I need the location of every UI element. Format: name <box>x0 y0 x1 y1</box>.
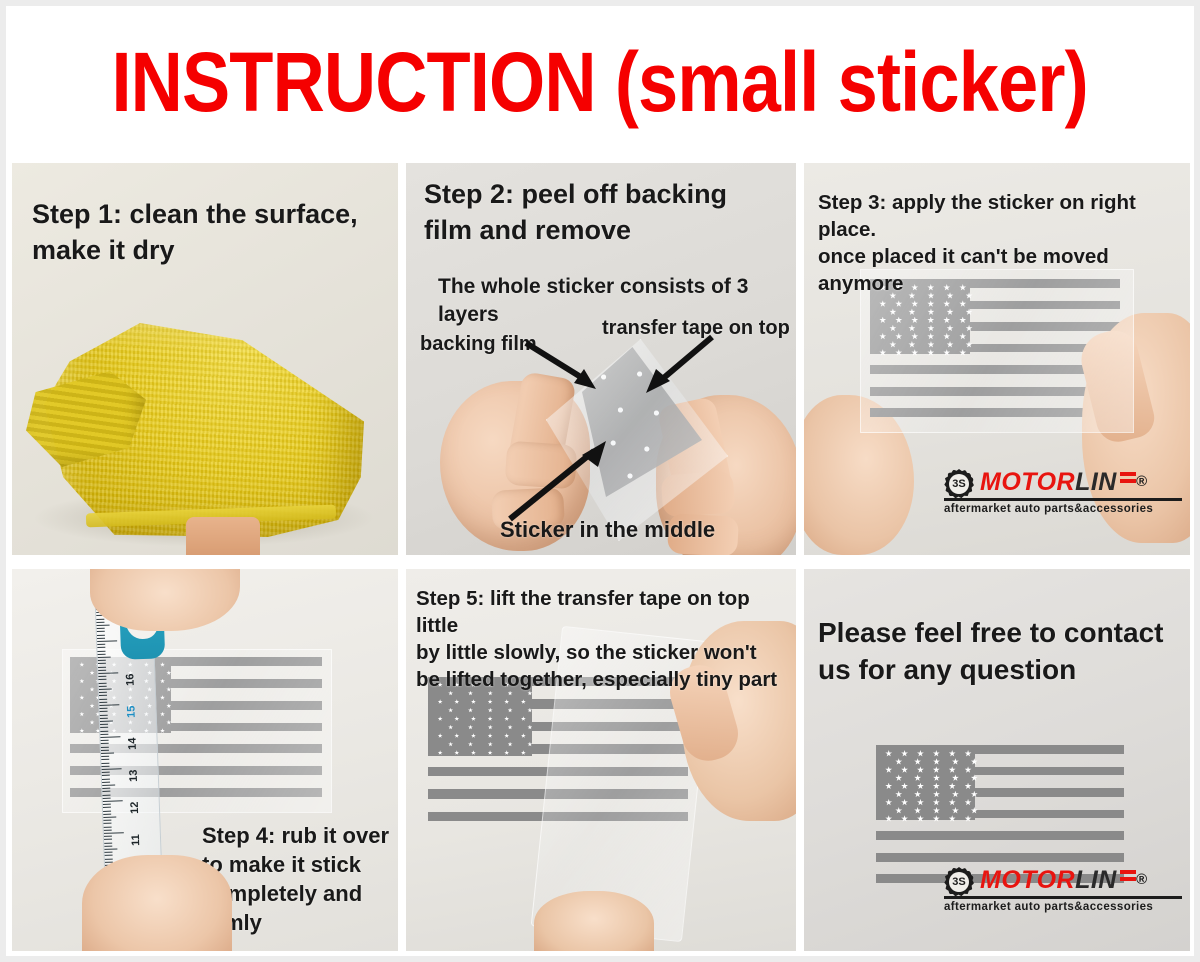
ruler-tick <box>103 813 111 814</box>
flag-star <box>488 699 493 704</box>
flag-star <box>488 750 493 755</box>
label-backing-film: backing film <box>420 331 537 357</box>
ruler-tick <box>101 753 114 754</box>
flag-star <box>965 766 972 773</box>
flag-star <box>965 799 972 806</box>
step-1-caption: Step 1: clean the surface, make it dry <box>32 197 358 268</box>
flag-star <box>454 699 459 704</box>
ruler-tick <box>101 740 109 741</box>
ruler-tick <box>103 804 111 805</box>
ruler-tick <box>99 702 107 703</box>
flag-star <box>901 783 908 790</box>
bottom-hand <box>82 855 232 951</box>
ruler-tick <box>102 794 110 795</box>
flag-star <box>933 807 940 814</box>
logo-divider <box>944 498 1182 501</box>
logo-e-bars-icon <box>1120 870 1136 888</box>
logo-wordmark: MOTORLIN® <box>980 469 1147 495</box>
flag-star <box>521 733 526 738</box>
ruler-tick <box>99 692 107 693</box>
flag-star <box>438 699 443 704</box>
ruler-tick <box>101 746 109 747</box>
flag-star <box>527 742 532 747</box>
flag-star <box>454 733 459 738</box>
ruler-tick <box>99 698 107 699</box>
flag-star <box>508 742 513 747</box>
ruler-tick <box>104 836 112 837</box>
flag-star <box>949 750 956 757</box>
flag-star <box>488 742 493 747</box>
registered-mark: ® <box>1136 473 1148 490</box>
ruler-tick <box>104 852 112 853</box>
flag-star <box>901 750 908 757</box>
brand-logo: 3S MOTORLIN® aftermarket auto parts&acce… <box>944 469 1182 515</box>
ruler-tick <box>104 829 112 830</box>
ruler-number: 13 <box>128 769 140 782</box>
page-title-bar: INSTRUCTION (small sticker) <box>6 6 1194 158</box>
flag-star <box>933 774 940 781</box>
panel-step-4: 9101112131415161718 Step 4: rub it over … <box>12 569 398 951</box>
ruler-tick <box>99 708 107 709</box>
ruler-tick <box>101 749 109 750</box>
us-flag-decal <box>876 745 1124 885</box>
flag-stripe <box>876 831 1124 840</box>
instruction-sheet: INSTRUCTION (small sticker) Step 1: clea… <box>0 0 1200 962</box>
panel-step-1: Step 1: clean the surface, make it dry <box>12 163 398 555</box>
ruler-tick <box>102 772 110 773</box>
flag-star <box>885 783 892 790</box>
panel-step-3: Step 3: apply the sticker on right place… <box>804 163 1190 555</box>
ruler-tick <box>99 704 119 706</box>
gear-icon: 3S <box>944 469 974 499</box>
ruler-tick <box>97 634 105 635</box>
flag-star <box>448 742 453 747</box>
ruler-tick <box>103 823 111 824</box>
flag-star <box>914 807 921 814</box>
gear-icon: 3S <box>944 867 974 897</box>
ruler-tick <box>104 842 112 843</box>
flag-star <box>504 716 509 721</box>
flag-star <box>895 758 902 765</box>
flag-star <box>488 733 493 738</box>
flag-star <box>885 766 892 773</box>
flag-star <box>949 799 956 806</box>
flag-star <box>895 807 902 814</box>
flag-star <box>438 716 443 721</box>
ruler-tick <box>98 670 106 671</box>
flag-star <box>895 774 902 781</box>
flag-star <box>438 750 443 755</box>
page-title: INSTRUCTION (small sticker) <box>112 40 1088 124</box>
ruler-tick <box>98 676 106 677</box>
step-2-caption: Step 2: peel off backing film and remove <box>424 177 727 248</box>
flag-star <box>454 750 459 755</box>
flag-star <box>965 783 972 790</box>
ruler-tick <box>97 628 105 629</box>
ruler-tick <box>98 660 106 661</box>
ruler-tick <box>104 826 112 827</box>
steps-grid: Step 1: clean the surface, make it dry <box>12 163 1188 953</box>
registered-mark: ® <box>1136 871 1148 888</box>
ruler-tick <box>102 781 110 782</box>
ruler-tick <box>102 768 122 770</box>
logo-wordmark: MOTORLIN® <box>980 867 1147 893</box>
flag-star <box>933 766 940 773</box>
ruler-tick <box>99 689 112 690</box>
ruler-tick <box>97 625 110 626</box>
step-5-caption: Step 5: lift the transfer tape on top li… <box>416 585 796 693</box>
flag-star <box>468 725 473 730</box>
ruler-tick <box>99 682 107 683</box>
ruler-tick <box>104 839 112 840</box>
ruler-tick <box>103 807 111 808</box>
flag-star <box>917 750 924 757</box>
flag-star <box>448 708 453 713</box>
yellow-towel-image <box>26 313 382 551</box>
flag-star <box>933 799 940 806</box>
flag-star <box>933 791 940 798</box>
ruler-number: 11 <box>130 834 142 846</box>
flag-canton <box>876 745 975 820</box>
ruler-tick <box>96 618 104 619</box>
ruler-tick <box>100 718 108 719</box>
ruler-tick <box>102 788 110 789</box>
ruler-tick <box>97 647 105 648</box>
ruler-tick <box>98 679 106 680</box>
ruler-tick <box>100 714 108 715</box>
ruler-tick <box>97 638 105 639</box>
flag-stripe <box>876 853 1124 862</box>
flag-star <box>508 708 513 713</box>
ruler-tick <box>100 727 108 728</box>
ruler-tick <box>100 724 108 725</box>
flag-star <box>471 716 476 721</box>
flag-star <box>488 716 493 721</box>
flag-star <box>527 725 532 730</box>
flag-star <box>521 699 526 704</box>
ruler-tick <box>101 762 109 763</box>
flag-star <box>521 750 526 755</box>
ruler-number: 12 <box>129 801 141 814</box>
ruler-tick <box>105 858 113 859</box>
hand-under-towel <box>186 517 260 555</box>
ruler-number: 15 <box>125 705 137 718</box>
flag-star <box>504 750 509 755</box>
panel-contact: Please feel free to contact us for any q… <box>804 569 1190 951</box>
logo-brand-primary: MOTOR <box>980 866 1075 894</box>
ruler-tick <box>98 666 106 667</box>
flag-star <box>914 791 921 798</box>
ruler-tick <box>104 832 124 834</box>
flag-star <box>885 750 892 757</box>
logo-tagline: aftermarket auto parts&accessories <box>944 901 1182 913</box>
ruler-tick <box>104 848 117 849</box>
ruler-tick <box>103 797 111 798</box>
flag-star <box>504 699 509 704</box>
flag-star <box>471 733 476 738</box>
flag-star <box>471 699 476 704</box>
ruler-tick <box>97 640 117 642</box>
flag-star <box>949 766 956 773</box>
flag-star <box>917 766 924 773</box>
ruler-tick <box>102 785 115 786</box>
flag-star <box>468 708 473 713</box>
flag-star <box>508 725 513 730</box>
flag-star <box>521 716 526 721</box>
flag-star <box>933 758 940 765</box>
ruler-tick <box>100 730 108 731</box>
ruler-tick <box>104 845 112 846</box>
ruler-tick <box>100 734 108 735</box>
brand-logo: 3S MOTORLIN® aftermarket auto parts&acce… <box>944 867 1182 913</box>
flag-star <box>488 725 493 730</box>
gear-label: 3S <box>949 474 969 494</box>
ruler-tick <box>101 759 109 760</box>
step-3-caption: Step 3: apply the sticker on right place… <box>818 189 1190 297</box>
transfer-tape-arrow-icon <box>634 333 718 399</box>
panel-step-2: Step 2: peel off backing film and remove… <box>406 163 796 555</box>
flag-star <box>952 774 959 781</box>
flag-star <box>471 750 476 755</box>
ruler-tick <box>102 775 110 776</box>
logo-wordmark-row: 3S MOTORLIN® <box>944 867 1182 893</box>
logo-wordmark-row: 3S MOTORLIN® <box>944 469 1182 495</box>
ruler-tick <box>100 721 113 722</box>
ruler-number: 16 <box>124 673 136 686</box>
flag-star <box>952 807 959 814</box>
ruler-tick <box>98 663 106 664</box>
ruler-tick <box>103 820 111 821</box>
ruler-tick <box>99 695 107 696</box>
logo-brand-primary: MOTOR <box>980 468 1075 496</box>
flag-star <box>917 783 924 790</box>
flag-star <box>448 725 453 730</box>
gear-label: 3S <box>949 872 969 892</box>
ruler-tick <box>102 778 110 779</box>
flag-star <box>901 766 908 773</box>
flag-star <box>952 791 959 798</box>
ruler-tick <box>97 644 105 645</box>
ruler-tick <box>101 756 109 757</box>
ruler-tick <box>101 743 109 744</box>
flag-star <box>901 799 908 806</box>
ruler-tick <box>100 736 120 738</box>
flag-star <box>504 733 509 738</box>
flag-star <box>488 708 493 713</box>
ruler-tick <box>100 711 108 712</box>
ruler-tick <box>97 631 105 632</box>
ruler-tick <box>105 855 113 856</box>
flag-star <box>438 733 443 738</box>
ruler-tick <box>98 672 118 674</box>
ruler-tick <box>103 810 111 811</box>
flag-star <box>933 750 940 757</box>
flag-star <box>914 758 921 765</box>
flag-star <box>949 783 956 790</box>
sticker-middle-arrow-icon <box>502 437 612 523</box>
ruler-tick <box>98 657 111 658</box>
flag-star <box>933 783 940 790</box>
contact-caption: Please feel free to contact us for any q… <box>818 615 1163 689</box>
logo-tagline: aftermarket auto parts&accessories <box>944 503 1182 515</box>
flag-star <box>468 742 473 747</box>
logo-divider <box>944 896 1182 899</box>
flag-star <box>914 774 921 781</box>
panel-step-5: Step 5: lift the transfer tape on top li… <box>406 569 796 951</box>
ruler-tick <box>102 791 110 792</box>
flag-star <box>952 758 959 765</box>
ruler-tick <box>97 650 105 651</box>
ruler-tick <box>96 622 104 623</box>
logo-brand-secondary: LIN <box>1075 468 1117 496</box>
flag-star <box>527 708 532 713</box>
ruler-tick <box>103 816 116 817</box>
logo-brand-secondary: LIN <box>1075 866 1117 894</box>
top-hand <box>90 569 240 631</box>
logo-e-bars-icon <box>1120 472 1136 490</box>
ruler-tick <box>99 686 107 687</box>
flag-star <box>965 750 972 757</box>
ruler-tick <box>98 654 106 655</box>
ruler-tick <box>101 765 109 766</box>
flag-star <box>895 791 902 798</box>
flag-star <box>917 799 924 806</box>
flag-star <box>454 716 459 721</box>
backing-film-arrow-icon <box>524 339 604 393</box>
flag-star <box>885 799 892 806</box>
ruler-number: 14 <box>127 737 139 750</box>
bottom-hand <box>534 891 654 951</box>
ruler-tick <box>103 800 123 802</box>
